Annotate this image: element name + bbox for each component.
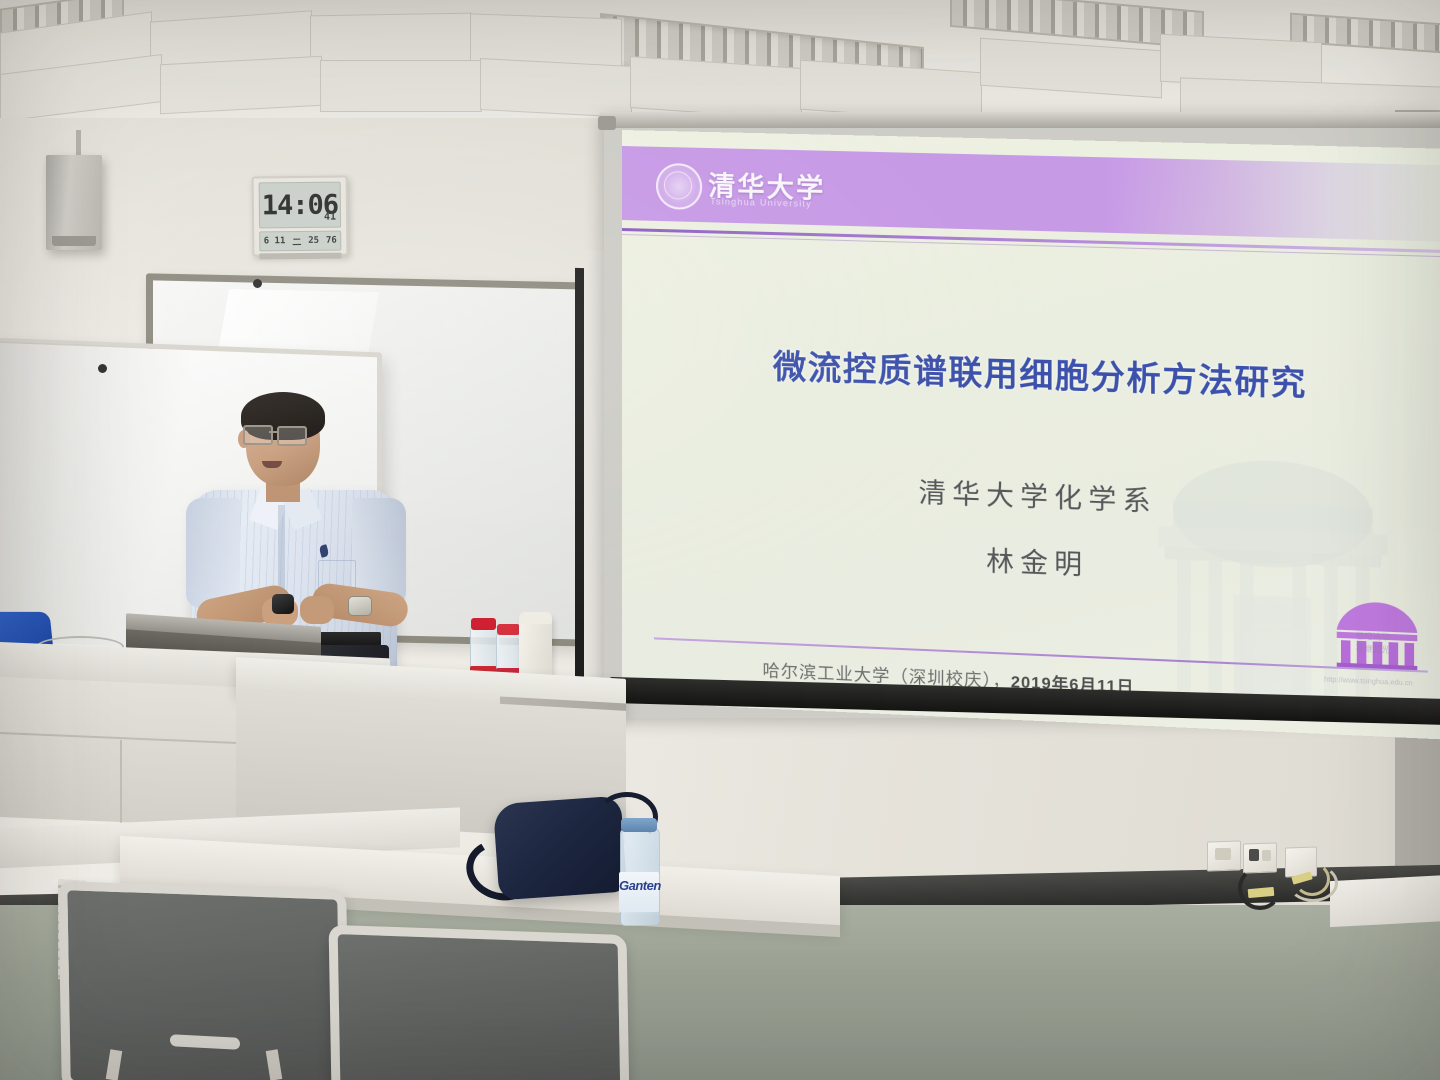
clock-humidity: 76 xyxy=(326,236,337,246)
bottle-brand-text: Ganten xyxy=(619,878,659,893)
clock-weekday: 二 xyxy=(292,234,301,247)
screen-roller-housing xyxy=(600,112,1440,128)
clock-base xyxy=(259,253,341,260)
data-socket xyxy=(1262,850,1271,861)
campus-photo-header xyxy=(1119,158,1440,243)
clock-seconds: 41 xyxy=(324,212,336,223)
presentation-clicker xyxy=(272,594,294,614)
eyeglasses-lens-left xyxy=(243,425,273,445)
clock-date-row: 6 11 二 25 76 xyxy=(259,231,341,252)
anniversary-logo-text: 世纪清华 花继美光 xyxy=(1356,630,1440,658)
desk-seam xyxy=(120,740,122,826)
classroom-chair xyxy=(58,881,350,1080)
speaker-mount xyxy=(76,130,81,158)
ceiling-tile xyxy=(160,56,322,114)
bottle-cap xyxy=(497,624,520,635)
wristwatch xyxy=(348,596,372,616)
thermos-lid xyxy=(519,612,552,624)
ceiling-tile xyxy=(980,38,1162,99)
whiteboard-shadow xyxy=(0,341,192,649)
presenter-hand-right xyxy=(300,596,334,624)
bottle-cap xyxy=(621,818,657,832)
ceiling-tile xyxy=(320,60,482,112)
screen-roller-cap xyxy=(598,116,616,130)
speaker-grille xyxy=(52,236,96,246)
slide-title: 微流控质谱联用细胞分析方法研究 xyxy=(622,335,1440,411)
classroom-chair xyxy=(329,925,630,1080)
ceiling-tile xyxy=(630,56,802,120)
whiteboard-magnet xyxy=(253,279,262,288)
projection-screen: 清华大学 Tsinghua University 微流控质谱联用细胞分析方法研究… xyxy=(622,130,1440,740)
ceiling xyxy=(0,0,1440,128)
eyeglasses-bridge xyxy=(269,431,278,433)
digital-wall-clock: 14:06 41 6 11 二 25 76 xyxy=(252,175,349,256)
student-desk xyxy=(1330,875,1440,927)
presenter-sleeve-left xyxy=(186,498,240,608)
data-socket xyxy=(1249,849,1259,861)
bottle-cap xyxy=(471,618,496,630)
clock-date: 6 11 xyxy=(264,236,286,246)
eyeglasses-lens-right xyxy=(277,426,307,446)
ceiling-tile xyxy=(480,58,632,118)
whiteboard-magnet xyxy=(98,364,107,373)
clock-temperature: 25 xyxy=(308,236,319,246)
presentation-slide: 清华大学 Tsinghua University 微流控质谱联用细胞分析方法研究… xyxy=(622,130,1440,740)
classroom-photo: 14:06 41 6 11 二 25 76 xyxy=(0,0,1440,1080)
power-socket xyxy=(1215,848,1231,860)
clock-display: 14:06 41 xyxy=(259,182,341,229)
tsinghua-seal-inner-icon xyxy=(664,171,692,200)
